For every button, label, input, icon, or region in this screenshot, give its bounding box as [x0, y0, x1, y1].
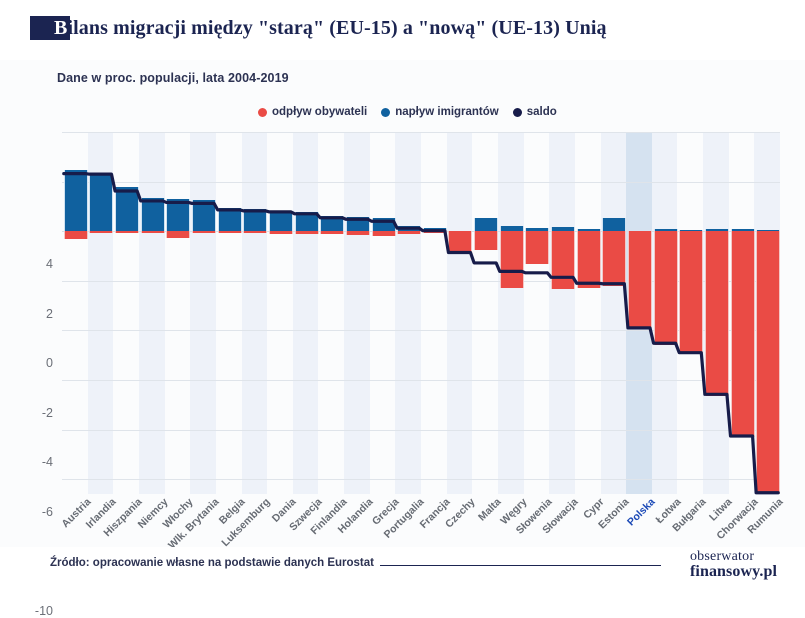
x-tick-label-polska: Polska [625, 496, 657, 528]
legend-dot-icon [381, 108, 390, 117]
chart-header: Bilans migracji między "starą" (EU-15) a… [0, 0, 805, 60]
title-rest: ilans migracji między "starą" (EU-15) a … [67, 17, 606, 39]
legend-dot-icon [513, 108, 522, 117]
title-initial: B [52, 17, 67, 39]
y-tick-label: 2 [46, 307, 53, 321]
source-note: Źródło: opracowanie własne na podstawie … [50, 557, 374, 569]
legend-item-0[interactable]: odpływ obywateli [258, 106, 367, 118]
chart-area: 420-2-4-6-8-10 [0, 120, 805, 490]
legend-dot-icon [258, 108, 267, 117]
legend-item-1[interactable]: napływ imigrantów [381, 106, 499, 118]
title-row: Bilans migracji między "starą" (EU-15) a… [30, 16, 607, 40]
logo-line-2: finansowy.pl [690, 564, 777, 580]
legend-label: odpływ obywateli [272, 106, 367, 118]
y-tick-label: 0 [46, 356, 53, 370]
y-tick-label: -4 [42, 455, 53, 469]
saldo-line [62, 132, 780, 494]
y-tick-label: -2 [42, 406, 53, 420]
site-logo[interactable]: obserwator finansowy.pl [690, 550, 777, 581]
x-axis-labels: AustriaIrlandiaHiszpaniaNiemcyWłochyWlk.… [62, 494, 780, 554]
logo-line-1: obserwator [690, 550, 777, 564]
chart-legend: odpływ obywatelinapływ imigrantówsaldo [258, 106, 557, 118]
legend-label: saldo [527, 106, 557, 118]
y-tick-label: -6 [42, 505, 53, 519]
chart-footer: Źródło: opracowanie własne na podstawie … [0, 547, 805, 591]
chart-subtitle: Dane w proc. populacji, lata 2004-2019 [57, 71, 289, 85]
chart-page: Bilans migracji między "starą" (EU-15) a… [0, 0, 805, 591]
legend-label: napływ imigrantów [395, 106, 499, 118]
legend-item-2[interactable]: saldo [513, 106, 557, 118]
y-tick-label: 4 [46, 257, 53, 271]
page-title: Bilans migracji między "starą" (EU-15) a… [52, 17, 607, 40]
saldo-path [64, 174, 778, 493]
footer-rule [380, 565, 661, 566]
plot-area [62, 132, 780, 494]
y-tick-label: -10 [35, 604, 53, 618]
